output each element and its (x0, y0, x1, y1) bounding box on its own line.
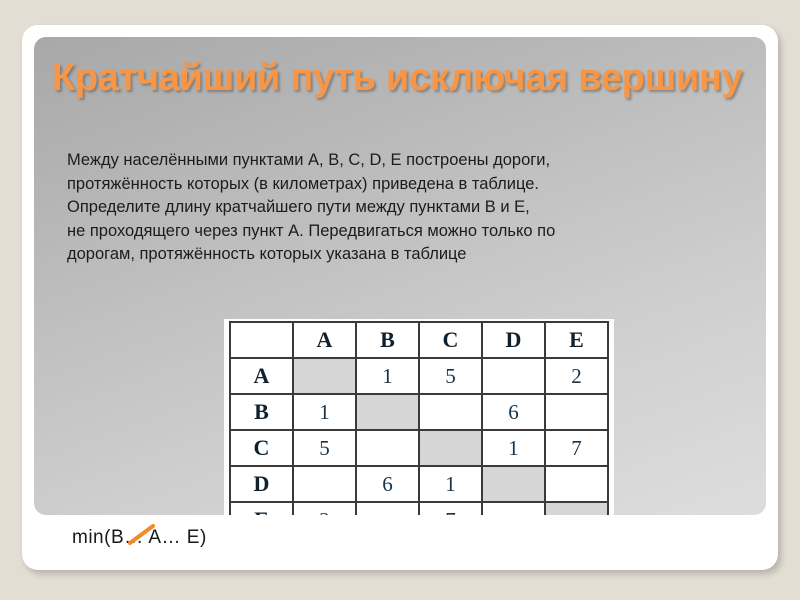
cell-c-b (356, 430, 419, 466)
slide-content-panel: Кратчайший путь исключая вершину Между н… (34, 37, 766, 515)
cell-e-e (545, 502, 608, 515)
table-row: A 1 5 2 (230, 358, 608, 394)
table-column-header-c: C (419, 322, 482, 358)
cell-a-d (482, 358, 545, 394)
cell-e-b (356, 502, 419, 515)
cell-d-e (545, 466, 608, 502)
cell-d-a (293, 466, 356, 502)
slide-frame: Кратчайший путь исключая вершину Между н… (22, 25, 778, 570)
cell-b-a: 1 (293, 394, 356, 430)
cell-a-c: 5 (419, 358, 482, 394)
table-row: D 6 1 (230, 466, 608, 502)
cell-d-d (482, 466, 545, 502)
cell-b-e (545, 394, 608, 430)
cell-d-c: 1 (419, 466, 482, 502)
cell-c-d: 1 (482, 430, 545, 466)
cell-e-a: 2 (293, 502, 356, 515)
table-row: C 5 1 7 (230, 430, 608, 466)
table-row-header-d: D (230, 466, 293, 502)
table-row-header-c: C (230, 430, 293, 466)
table-row: B 1 6 (230, 394, 608, 430)
page-title: Кратчайший путь исключая вершину (52, 55, 752, 101)
cell-b-c (419, 394, 482, 430)
cell-d-b: 6 (356, 466, 419, 502)
table-corner-cell (230, 322, 293, 358)
problem-statement-text: Между населёнными пунктами A, B, C, D, E… (67, 149, 757, 267)
table-row-header-b: B (230, 394, 293, 430)
formula-strip: min(B… A… E) (34, 523, 766, 563)
cell-c-a: 5 (293, 430, 356, 466)
distance-table-card: A B C D E A 1 5 2 (224, 319, 614, 515)
cell-c-c (419, 430, 482, 466)
cell-a-a (293, 358, 356, 394)
cell-e-c: 7 (419, 502, 482, 515)
table-column-header-d: D (482, 322, 545, 358)
formula-text: min(B… A… E) (72, 527, 207, 549)
table-row-header-e: E (230, 502, 293, 515)
cell-c-e: 7 (545, 430, 608, 466)
table-row: E 2 7 (230, 502, 608, 515)
distance-table: A B C D E A 1 5 2 (229, 321, 609, 515)
table-column-header-b: B (356, 322, 419, 358)
cell-b-b (356, 394, 419, 430)
cell-b-d: 6 (482, 394, 545, 430)
cell-e-d (482, 502, 545, 515)
table-column-header-e: E (545, 322, 608, 358)
cell-a-e: 2 (545, 358, 608, 394)
table-column-header-a: A (293, 322, 356, 358)
cell-a-b: 1 (356, 358, 419, 394)
table-row-header-a: A (230, 358, 293, 394)
table-header-row: A B C D E (230, 322, 608, 358)
